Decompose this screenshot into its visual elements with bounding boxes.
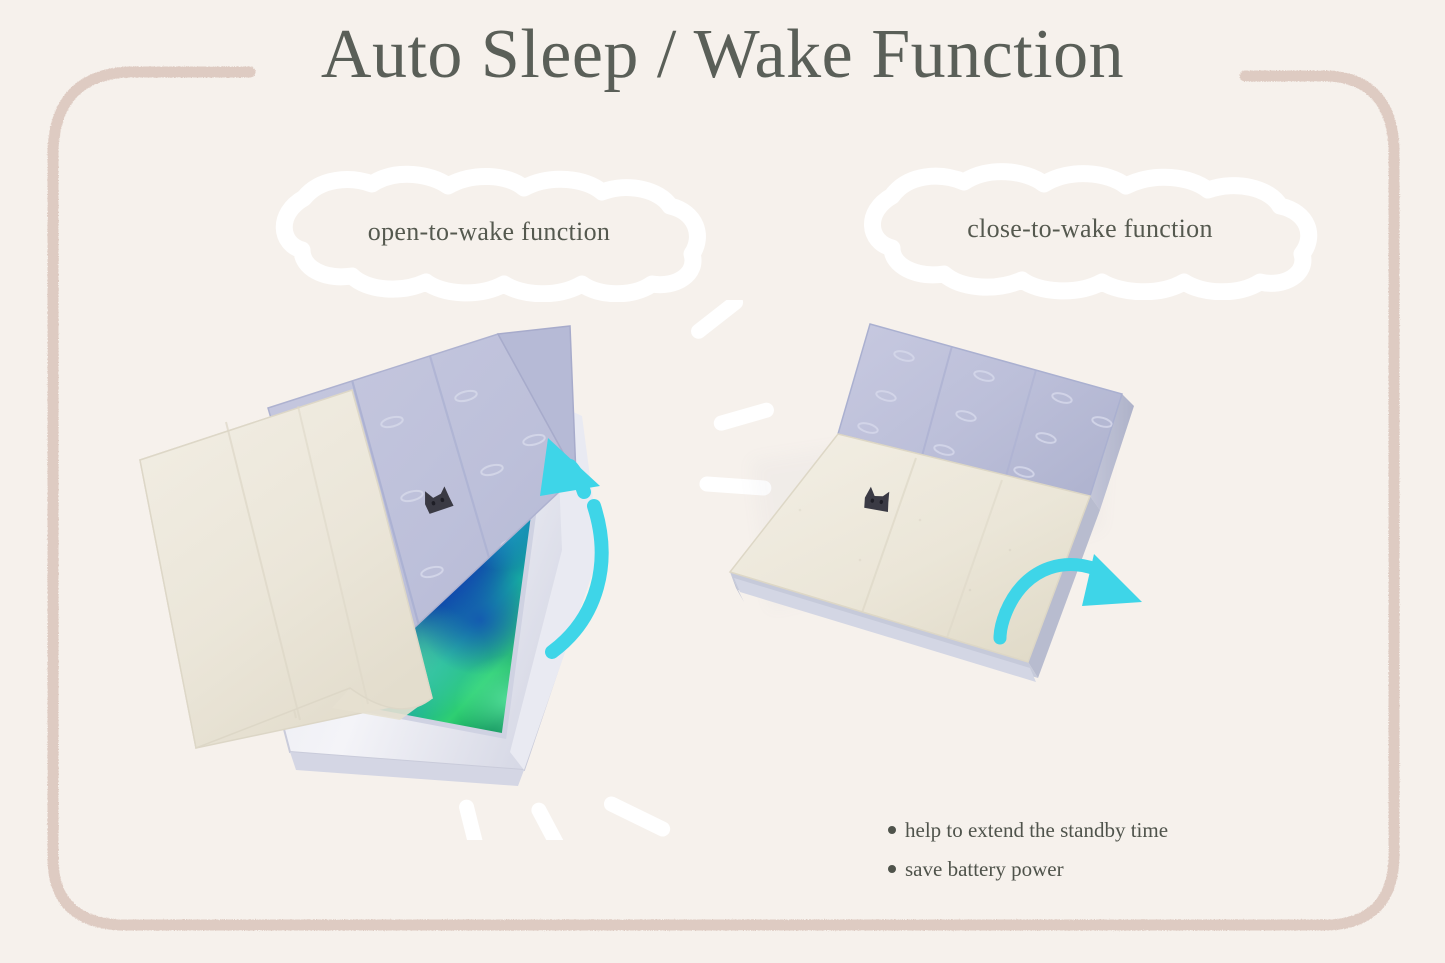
label-close-to-wake-text: close-to-wake function (836, 158, 1344, 300)
shine-marks-bottom-left-device (457, 794, 672, 840)
benefits-list: help to extend the standby time save bat… (888, 820, 1308, 898)
label-close-to-wake: close-to-wake function (836, 158, 1344, 300)
benefit-item: help to extend the standby time (888, 820, 1308, 841)
bullet-dot-icon (888, 865, 896, 873)
page-title: Auto Sleep / Wake Function (0, 18, 1445, 92)
benefit-text: help to extend the standby time (905, 820, 1168, 841)
label-open-to-wake: open-to-wake function (246, 162, 732, 302)
benefit-item: save battery power (888, 859, 1308, 880)
bullet-dot-icon (888, 826, 896, 834)
label-open-to-wake-text: open-to-wake function (246, 162, 732, 302)
benefit-text: save battery power (905, 859, 1064, 880)
promo-graphic: Auto Sleep / Wake Function open-to-wake … (0, 0, 1445, 963)
product-image-close-to-wake (690, 310, 1290, 780)
